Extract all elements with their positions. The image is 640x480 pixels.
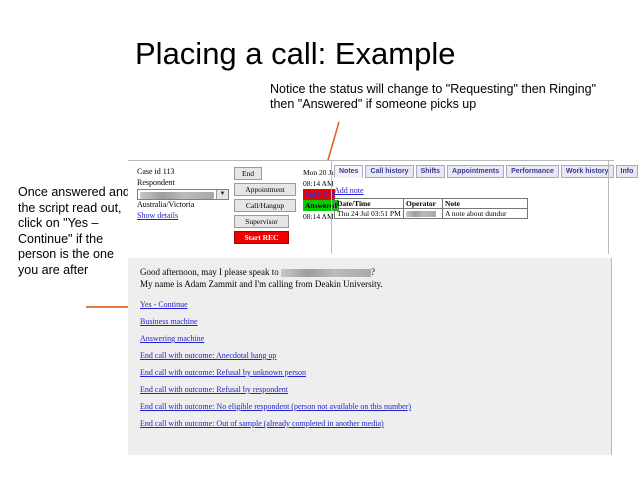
case-info-block: Case id 113 Respondent ▼ Australia/Victo…: [137, 167, 233, 221]
tab-notes[interactable]: Notes: [334, 165, 363, 178]
column-header-operator: Operator: [404, 199, 443, 209]
link-outcome-no-eligible-respondent[interactable]: End call with outcome: No eligible respo…: [140, 402, 580, 411]
page-title: Placing a call: Example: [135, 36, 456, 72]
link-outcome-out-of-sample[interactable]: End call with outcome: Out of sample (al…: [140, 419, 580, 428]
script-panel: Good afternoon, may I please speak to ? …: [128, 258, 612, 455]
tab-info[interactable]: Info: [616, 165, 639, 178]
tab-appointments[interactable]: Appointments: [447, 165, 504, 178]
panel-right-border: [608, 161, 609, 254]
supervisor-button[interactable]: Supervisor: [234, 215, 289, 228]
show-details-link[interactable]: Show details: [137, 211, 233, 222]
start-rec-button[interactable]: Start REC: [234, 231, 289, 244]
notes-panel: Add note Date/Time Operator Note Thu 24 …: [334, 180, 609, 250]
column-header-datetime: Date/Time: [335, 199, 404, 209]
chevron-down-icon[interactable]: ▼: [216, 190, 228, 199]
tab-work-history[interactable]: Work history: [561, 165, 614, 178]
respondent-name-redacted: [281, 269, 371, 277]
tab-call-history[interactable]: Call history: [365, 165, 413, 178]
cell-operator: [404, 209, 443, 219]
end-button[interactable]: End: [234, 167, 262, 180]
link-answering-machine[interactable]: Answering machine: [140, 334, 580, 343]
add-note-link[interactable]: Add note: [334, 186, 364, 195]
timezone-label: Australia/Victoria: [137, 200, 233, 211]
script-text: Good afternoon, may I please speak to ? …: [140, 266, 383, 290]
script-line-1-before: Good afternoon, may I please speak to: [140, 267, 279, 277]
respondent-label: Respondent: [137, 178, 233, 189]
link-business-machine[interactable]: Business machine: [140, 317, 580, 326]
tab-performance[interactable]: Performance: [506, 165, 559, 178]
link-yes-continue[interactable]: Yes - Continue: [140, 300, 580, 309]
respondent-value-redacted: [140, 192, 214, 199]
annotation-yes-continue-note: Once answered and the script read out, c…: [18, 185, 130, 278]
link-outcome-refusal-unknown-person[interactable]: End call with outcome: Refusal by unknow…: [140, 368, 580, 377]
respondent-dropdown[interactable]: ▼: [137, 189, 229, 200]
tab-bar: Notes Call history Shifts Appointments P…: [334, 165, 640, 178]
script-line-2: My name is Adam Zammit and I'm calling f…: [140, 278, 383, 290]
tab-shifts[interactable]: Shifts: [416, 165, 445, 178]
column-header-note: Note: [443, 199, 528, 209]
case-id-label: Case id 113: [137, 167, 233, 178]
link-outcome-anecdotal-hang-up[interactable]: End call with outcome: Anecdotal hang up: [140, 351, 580, 360]
cell-datetime: Thu 24 Jul 03:51 PM: [335, 209, 404, 219]
panel-divider: [331, 161, 332, 254]
script-line-1: Good afternoon, may I please speak to ?: [140, 266, 383, 278]
table-row[interactable]: Thu 24 Jul 03:51 PM A note about dundur: [335, 209, 528, 219]
cell-note: A note about dundur: [443, 209, 528, 219]
table-header-row: Date/Time Operator Note: [335, 199, 528, 209]
appointment-button[interactable]: Appointment: [234, 183, 296, 196]
annotation-status-note: Notice the status will change to "Reques…: [270, 82, 600, 112]
operator-redacted: [406, 211, 436, 217]
call-control-buttons: End Appointment Call/Hangup Supervisor S…: [234, 167, 296, 247]
notes-table: Date/Time Operator Note Thu 24 Jul 03:51…: [334, 198, 528, 219]
app-header-panel: Case id 113 Respondent ▼ Australia/Victo…: [128, 160, 614, 254]
action-links-list: Yes - Continue Business machine Answerin…: [140, 300, 580, 436]
script-line-1-after: ?: [371, 267, 375, 277]
call-hangup-button[interactable]: Call/Hangup: [234, 199, 296, 212]
embedded-app-screenshot: Case id 113 Respondent ▼ Australia/Victo…: [128, 160, 614, 456]
link-outcome-refusal-respondent[interactable]: End call with outcome: Refusal by respon…: [140, 385, 580, 394]
